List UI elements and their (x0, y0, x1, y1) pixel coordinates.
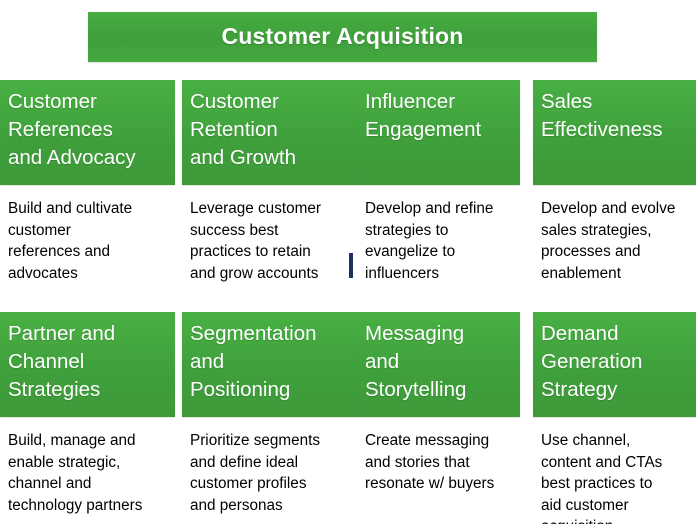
card-body: Use channel, content and CTAs best pract… (533, 417, 696, 524)
card-header: Segmentation and Positioning (182, 312, 357, 417)
card-title: Influencer Engagement (365, 88, 512, 144)
card-description: Use channel, content and CTAs best pract… (541, 430, 687, 524)
card-title: Customer References and Advocacy (8, 88, 167, 172)
card-body: Leverage customer success best practices… (182, 185, 357, 300)
card-header: Customer Retention and Growth (182, 80, 357, 185)
card-title: Messaging and Storytelling (365, 320, 512, 404)
card-body: Create messaging and stories that resona… (357, 417, 520, 524)
card-description: Develop and refine strategies to evangel… (365, 198, 511, 284)
card-title: Partner and Channel Strategies (8, 320, 167, 404)
card-header: Customer References and Advocacy (0, 80, 175, 185)
card-partner-and-channel-strategies[interactable]: Partner and Channel Strategies Build, ma… (0, 312, 175, 524)
card-demand-generation-strategy[interactable]: Demand Generation Strategy Use channel, … (533, 312, 696, 524)
card-header: Influencer Engagement (357, 80, 520, 185)
text-cursor-caret (349, 253, 353, 278)
card-header: Partner and Channel Strategies (0, 312, 175, 417)
card-body: Build and cultivate customer references … (0, 185, 175, 300)
card-title: Segmentation and Positioning (190, 320, 349, 404)
card-body: Develop and evolve sales strategies, pro… (533, 185, 696, 300)
card-header: Demand Generation Strategy (533, 312, 696, 417)
card-header: Sales Effectiveness (533, 80, 696, 185)
card-description: Create messaging and stories that resona… (365, 430, 511, 495)
card-description: Leverage customer success best practices… (190, 198, 348, 284)
page-title: Customer Acquisition (221, 24, 463, 49)
card-description: Develop and evolve sales strategies, pro… (541, 198, 687, 284)
card-description: Build and cultivate customer references … (8, 198, 166, 284)
card-sales-effectiveness[interactable]: Sales Effectiveness Develop and evolve s… (533, 80, 696, 300)
card-title: Customer Retention and Growth (190, 88, 349, 172)
card-description: Build, manage and enable strategic, chan… (8, 430, 166, 516)
slide-canvas: Customer Acquisition Customer References… (0, 0, 696, 521)
card-header: Messaging and Storytelling (357, 312, 520, 417)
card-description: Prioritize segments and define ideal cus… (190, 430, 348, 516)
card-title: Demand Generation Strategy (541, 320, 688, 404)
card-body: Prioritize segments and define ideal cus… (182, 417, 357, 524)
card-title: Sales Effectiveness (541, 88, 688, 144)
card-influencer-engagement[interactable]: Influencer Engagement Develop and refine… (357, 80, 520, 300)
card-body: Build, manage and enable strategic, chan… (0, 417, 175, 524)
card-messaging-and-storytelling[interactable]: Messaging and Storytelling Create messag… (357, 312, 520, 524)
banner-customer-acquisition: Customer Acquisition (88, 12, 597, 62)
card-segmentation-and-positioning[interactable]: Segmentation and Positioning Prioritize … (182, 312, 357, 524)
card-body: Develop and refine strategies to evangel… (357, 185, 520, 300)
card-customer-retention-and-growth[interactable]: Customer Retention and Growth Leverage c… (182, 80, 357, 300)
card-customer-references-and-advocacy[interactable]: Customer References and Advocacy Build a… (0, 80, 175, 300)
